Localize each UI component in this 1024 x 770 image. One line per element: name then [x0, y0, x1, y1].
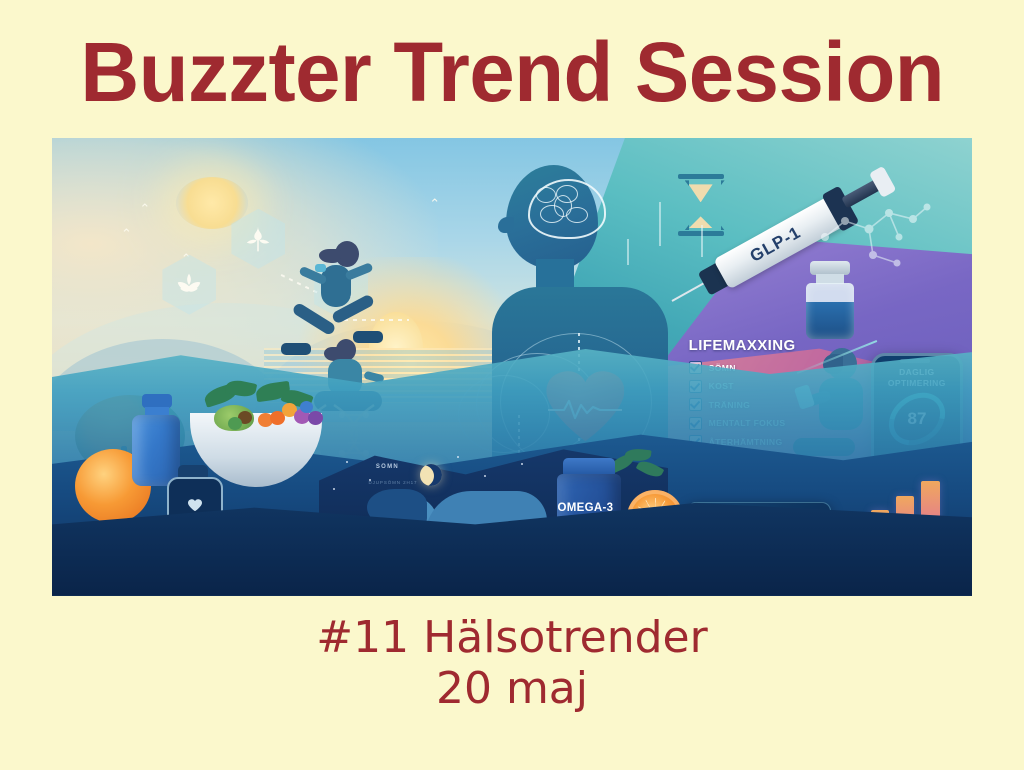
bird-icon: ⌃: [429, 197, 440, 210]
heart-icon: [188, 499, 202, 511]
page-subtitle: #11 Hälsotrender 20 maj: [316, 612, 707, 714]
molecule-icon: [815, 193, 935, 273]
bird-icon: ⌃: [139, 202, 150, 215]
brain-icon: [528, 179, 606, 239]
bird-icon: ⌃: [121, 227, 132, 240]
bowl-contents: [208, 399, 332, 433]
subtitle-line-2: 20 maj: [316, 663, 707, 714]
presentation-slide: Buzzter Trend Session ⌃ ⌃ ⌃ ⌃: [0, 0, 1024, 770]
medicine-vial: [802, 261, 858, 339]
sleep-label: SÖMN: [376, 464, 399, 470]
hero-illustration: ⌃ ⌃ ⌃ ⌃: [52, 138, 972, 596]
page-title: Buzzter Trend Session: [80, 33, 944, 113]
subtitle-line-1: #11 Hälsotrender: [316, 612, 707, 663]
